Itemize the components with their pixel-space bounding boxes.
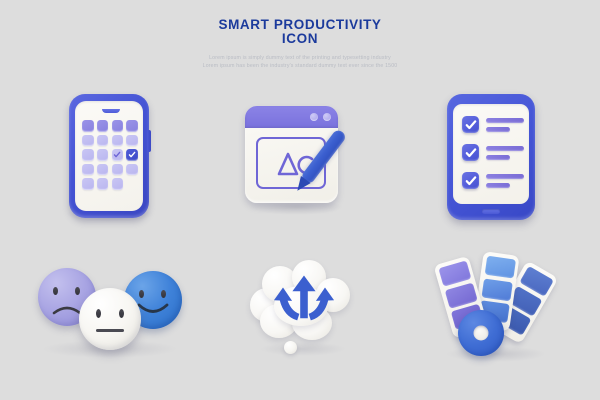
text-line [486, 155, 510, 160]
app-cell[interactable] [112, 178, 124, 190]
eye [119, 309, 124, 318]
eye [75, 287, 80, 295]
page-title: SMART PRODUCTIVITY ICON [0, 18, 600, 46]
color-chip[interactable] [481, 278, 512, 301]
window-control-dot-icon[interactable] [310, 113, 318, 121]
app-cell[interactable] [82, 149, 94, 161]
icon-set-canvas: SMART PRODUCTIVITY ICON Lorem ipsum is s… [0, 0, 600, 400]
checklist-item[interactable] [462, 172, 524, 192]
app-cell[interactable] [97, 178, 109, 190]
app-cell[interactable] [82, 178, 94, 190]
app-cell[interactable] [82, 164, 94, 176]
neutral-face-icon[interactable] [79, 288, 141, 350]
app-cell[interactable] [112, 164, 124, 176]
tablet-home-button[interactable] [482, 209, 500, 214]
drop-shadow [260, 342, 346, 356]
flat-mouth [96, 329, 124, 332]
app-cell-empty [126, 178, 138, 190]
app-cell[interactable] [82, 135, 94, 147]
arrow-left-shaft [280, 298, 299, 320]
eye [53, 287, 58, 295]
app-cell[interactable] [112, 120, 124, 132]
app-cell[interactable] [126, 164, 138, 176]
arrow-right-shaft [309, 298, 328, 320]
checkmark-icon [465, 119, 477, 131]
checklist-item[interactable] [462, 116, 524, 136]
arrow-left-head [275, 288, 292, 301]
smile-mouth [137, 302, 169, 318]
app-icon-grid [82, 120, 138, 190]
thought-trail-dot [284, 341, 297, 354]
phone-screen [75, 101, 143, 211]
color-chip[interactable] [484, 256, 515, 279]
arrow-up-shaft [301, 288, 308, 318]
phone-speaker-notch [102, 109, 120, 113]
page-title-line-2: ICON [0, 32, 600, 46]
app-cell-marked[interactable] [112, 149, 124, 161]
arrow-right-head [317, 288, 334, 301]
color-chip[interactable] [438, 261, 471, 287]
checklist-text-lines [486, 146, 524, 160]
tablet-checklist-icon[interactable] [440, 94, 544, 224]
checkmark-icon [465, 175, 477, 187]
tablet-screen [453, 104, 529, 204]
cloud-arrows-icon[interactable] [248, 258, 360, 362]
app-cell[interactable] [82, 120, 94, 132]
window-titlebar [245, 106, 338, 128]
app-cell[interactable] [126, 120, 138, 132]
checkmark-icon [128, 150, 136, 158]
eye [139, 290, 144, 298]
window-control-dot-icon[interactable] [323, 113, 331, 121]
text-line [486, 183, 510, 188]
arrow-up-head [293, 276, 315, 291]
app-cell[interactable] [126, 135, 138, 147]
page-subtitle-line-1: Lorem ipsum is simply dummy text of the … [0, 55, 600, 63]
text-line [486, 174, 524, 179]
design-window-pencil-icon[interactable] [240, 103, 360, 215]
eye [161, 290, 166, 298]
feedback-faces-icon[interactable] [34, 262, 186, 358]
checklist-text-lines [486, 174, 524, 188]
color-palette-swatches-icon[interactable] [432, 254, 560, 364]
phone-side-button [147, 130, 151, 152]
frown-mouth [52, 302, 82, 316]
text-line [486, 146, 524, 151]
app-cell[interactable] [97, 149, 109, 161]
palette-ring-hole [474, 326, 489, 341]
app-cell[interactable] [97, 164, 109, 176]
app-cell-selected[interactable] [126, 149, 138, 161]
eye [96, 309, 101, 318]
app-cell[interactable] [112, 135, 124, 147]
checklist-item[interactable] [462, 144, 524, 164]
page-title-line-1: SMART PRODUCTIVITY [218, 17, 381, 32]
checkbox-checked[interactable] [462, 116, 479, 133]
triangle-shape-icon [279, 154, 297, 174]
header: SMART PRODUCTIVITY ICON Lorem ipsum is s… [0, 18, 600, 70]
direction-arrows [264, 270, 344, 332]
checkbox-checked[interactable] [462, 144, 479, 161]
smartphone-app-grid-icon[interactable] [60, 94, 160, 224]
checkmark-icon [465, 147, 477, 159]
checkmark-icon [113, 150, 121, 158]
palette-ring[interactable] [458, 310, 504, 356]
page-subtitle: Lorem ipsum is simply dummy text of the … [0, 55, 600, 70]
text-line [486, 118, 524, 123]
app-cell[interactable] [97, 135, 109, 147]
checkbox-checked[interactable] [462, 172, 479, 189]
checklist-text-lines [486, 118, 524, 132]
text-line [486, 127, 510, 132]
app-cell[interactable] [97, 120, 109, 132]
page-subtitle-line-2: Lorem ipsum has been the industry's stan… [0, 63, 600, 71]
